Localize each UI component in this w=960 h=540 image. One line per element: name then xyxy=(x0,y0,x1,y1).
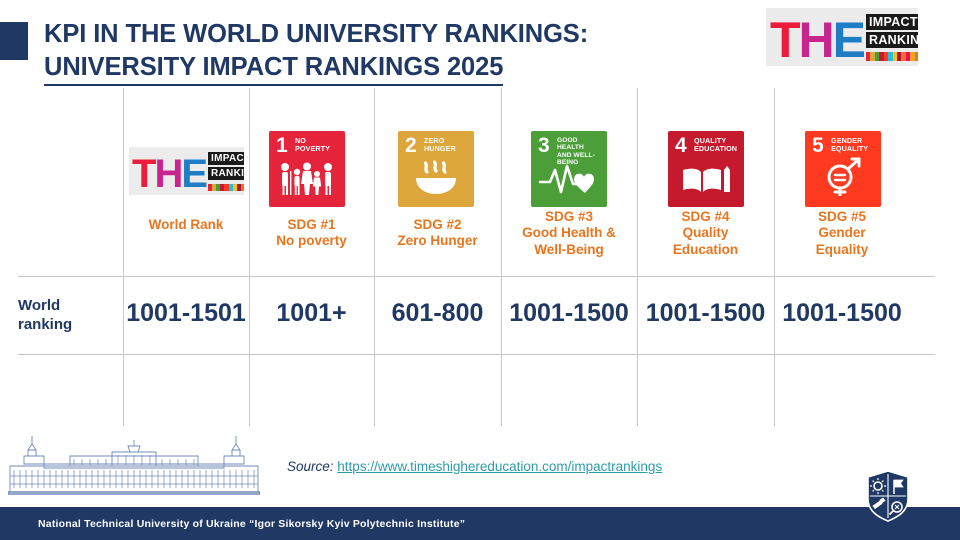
the-logo-rankings-label: RANKINGS xyxy=(866,32,918,48)
table-cell-sdg-1-value: 1001+ xyxy=(249,299,374,328)
sdg-5-gender-symbol-glyph xyxy=(805,156,881,201)
column-header-sdg-5: SDG #5 Gender Equality xyxy=(774,209,910,258)
the-letter-e-icon: E xyxy=(833,20,864,61)
table-cell-sdg-4-value: 1001-1500 xyxy=(637,299,774,328)
column-header-sdg-3: SDG #3 Good Health & Well-Being xyxy=(501,209,637,258)
the-letter-h-icon: H xyxy=(154,158,181,191)
table-cell-sdg-5-value: 1001-1500 xyxy=(774,299,910,328)
the-letters: T H E xyxy=(132,151,206,191)
column-header-sdg-1: SDG #1 No poverty xyxy=(249,217,374,250)
the-letter-t-icon: T xyxy=(770,20,799,61)
sdg-icon-label: GOOD HEALTHAND WELL-BEING xyxy=(557,137,603,167)
navy-accent-block xyxy=(0,22,28,60)
sdg-number: 3 xyxy=(538,135,550,156)
sdg-2-bowl-glyph xyxy=(398,158,474,201)
the-logo-color-stripes xyxy=(208,184,244,191)
row-header-world-ranking: World ranking xyxy=(18,297,72,335)
sdg-icon-label: QUALITYEDUCATION xyxy=(694,137,740,153)
the-letter-e-icon: E xyxy=(181,158,206,191)
sdg-4-quality-education-icon: 4 QUALITYEDUCATION xyxy=(668,131,744,207)
the-letters: T H E xyxy=(770,13,864,61)
column-header-sdg-4: SDG #4 Quality Education xyxy=(637,209,774,258)
the-impact-rankings-logo-cell: T H E IMPACT RANKINGS xyxy=(129,147,244,195)
the-impact-rankings-logo: T H E IMPACT RANKINGS xyxy=(766,8,918,66)
sdg-number: 2 xyxy=(405,135,417,156)
sdg-4-book-glyph xyxy=(668,162,744,201)
the-logo-impact-label: IMPACT xyxy=(866,14,918,30)
source-label: Source: xyxy=(287,459,334,474)
table-column-divider xyxy=(123,88,124,426)
kpi-main-building-illustration xyxy=(8,434,260,500)
sdg-icon-label: GENDEREQUALITY xyxy=(831,137,877,153)
source-link[interactable]: https://www.timeshighereducation.com/imp… xyxy=(337,459,662,474)
title-line-2: UNIVERSITY IMPACT RANKINGS 2025 xyxy=(44,51,503,87)
sdg-icon-label: ZEROHUNGER xyxy=(424,137,470,153)
column-header-world-rank: World Rank xyxy=(123,217,249,233)
sdg-5-gender-equality-icon: 5 GENDEREQUALITY xyxy=(805,131,881,207)
table-cell-sdg-3-value: 1001-1500 xyxy=(501,299,637,328)
table-row-divider xyxy=(18,354,935,355)
table-header-divider xyxy=(18,276,935,277)
title-line-1: KPI IN THE WORLD UNIVERSITY RANKINGS: xyxy=(44,18,744,51)
the-logo-color-stripes xyxy=(866,52,918,61)
footer-university-name: National Technical University of Ukraine… xyxy=(38,518,465,530)
the-logo-wordmark: IMPACT RANKINGS xyxy=(208,152,244,191)
sdg-3-heartbeat-glyph xyxy=(531,164,607,201)
the-logo-impact-label: IMPACT xyxy=(208,152,244,165)
the-logo-wordmark: IMPACT RANKINGS xyxy=(866,14,918,61)
the-logo-rankings-label: RANKINGS xyxy=(208,167,244,180)
the-letter-t-icon: T xyxy=(132,158,154,191)
table-column-divider xyxy=(374,88,375,426)
table-column-divider xyxy=(249,88,250,426)
sdg-number: 1 xyxy=(276,135,288,156)
sdg-2-zero-hunger-icon: 2 ZEROHUNGER xyxy=(398,131,474,207)
sdg-1-no-poverty-icon: 1 NOPOVERTY xyxy=(269,131,345,207)
table-cell-sdg-2-value: 601-800 xyxy=(374,299,501,328)
sdg-number: 5 xyxy=(812,135,824,156)
source-line: Source: https://www.timeshighereducation… xyxy=(287,459,662,474)
sdg-1-family-glyph xyxy=(269,162,345,201)
kpi-rankings-table: T H E IMPACT RANKINGS 1 NOPOVERTY xyxy=(0,88,935,426)
page-title: KPI IN THE WORLD UNIVERSITY RANKINGS: UN… xyxy=(44,18,744,86)
sdg-icon-label: NOPOVERTY xyxy=(295,137,341,153)
kpi-shield-logo xyxy=(866,470,910,522)
sdg-3-good-health-icon: 3 GOOD HEALTHAND WELL-BEING xyxy=(531,131,607,207)
the-letter-h-icon: H xyxy=(799,20,833,61)
table-cell-world-rank-value: 1001-1501 xyxy=(123,299,249,328)
sdg-number: 4 xyxy=(675,135,687,156)
column-header-sdg-2: SDG #2 Zero Hunger xyxy=(374,217,501,250)
